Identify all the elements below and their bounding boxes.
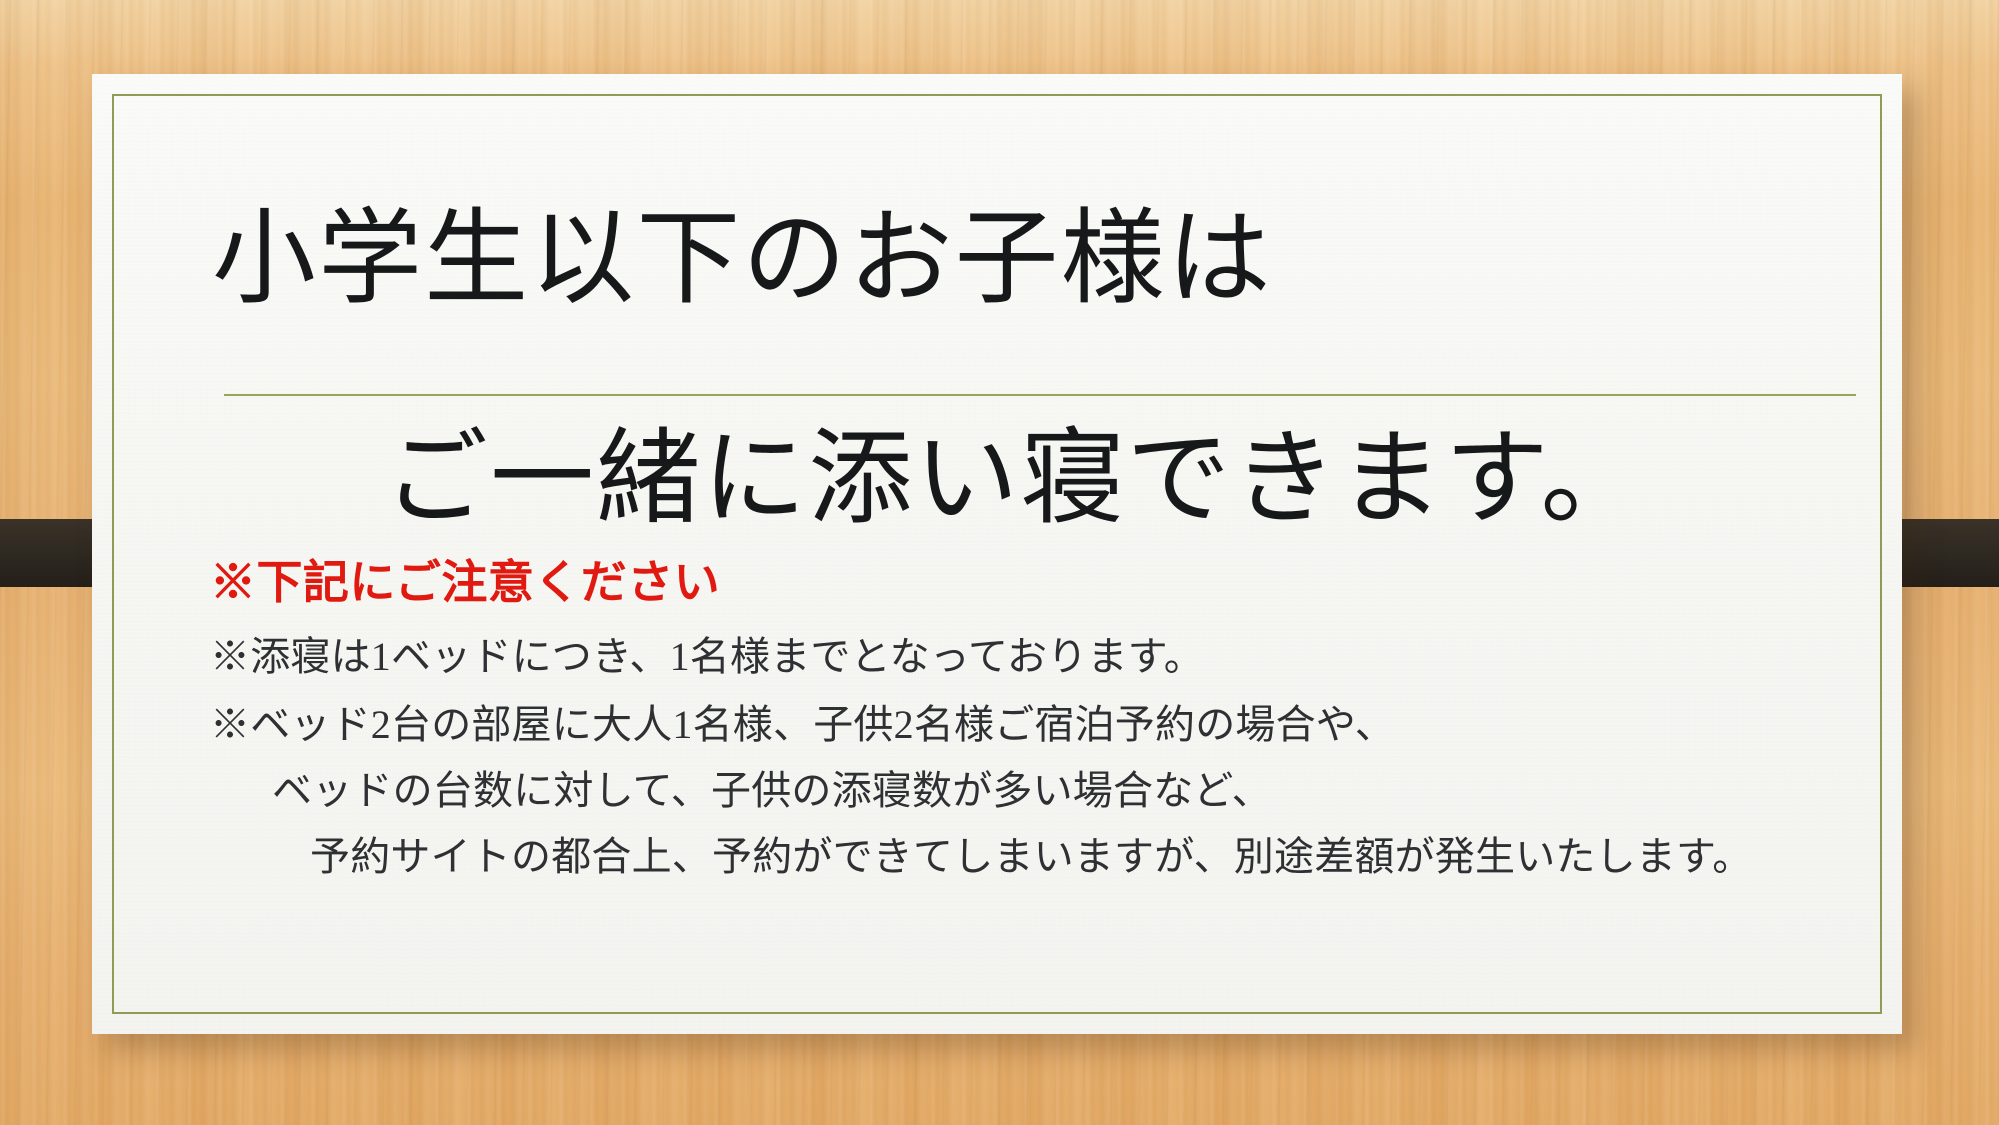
card-content: 小学生以下のお子様は ご一緒に添い寝できます。 ※下記にご注意ください ※添寝は…: [92, 74, 1902, 1034]
headline-line-2: ご一緒に添い寝できます。: [384, 426, 1647, 534]
note-line: ※添寝は1ベッドにつき、1名様までとなっております。: [210, 624, 1204, 682]
headline-line-1: 小学生以下のお子様は: [212, 206, 1273, 314]
warning-notice: ※下記にご注意ください: [210, 546, 720, 612]
note-line: 予約サイトの都合上、予約ができてしまいますが、別途差額が発生いたします。: [310, 824, 1752, 882]
headline-divider: [224, 394, 1856, 396]
note-line: ※ベッド2台の部屋に大人1名様、子供2名様ご宿泊予約の場合や、: [210, 692, 1395, 750]
note-line: ベッドの台数に対して、子供の添寝数が多い場合など、: [272, 758, 1272, 816]
notice-card: 小学生以下のお子様は ご一緒に添い寝できます。 ※下記にご注意ください ※添寝は…: [92, 74, 1902, 1034]
slide-stage: 小学生以下のお子様は ご一緒に添い寝できます。 ※下記にご注意ください ※添寝は…: [0, 0, 1999, 1125]
